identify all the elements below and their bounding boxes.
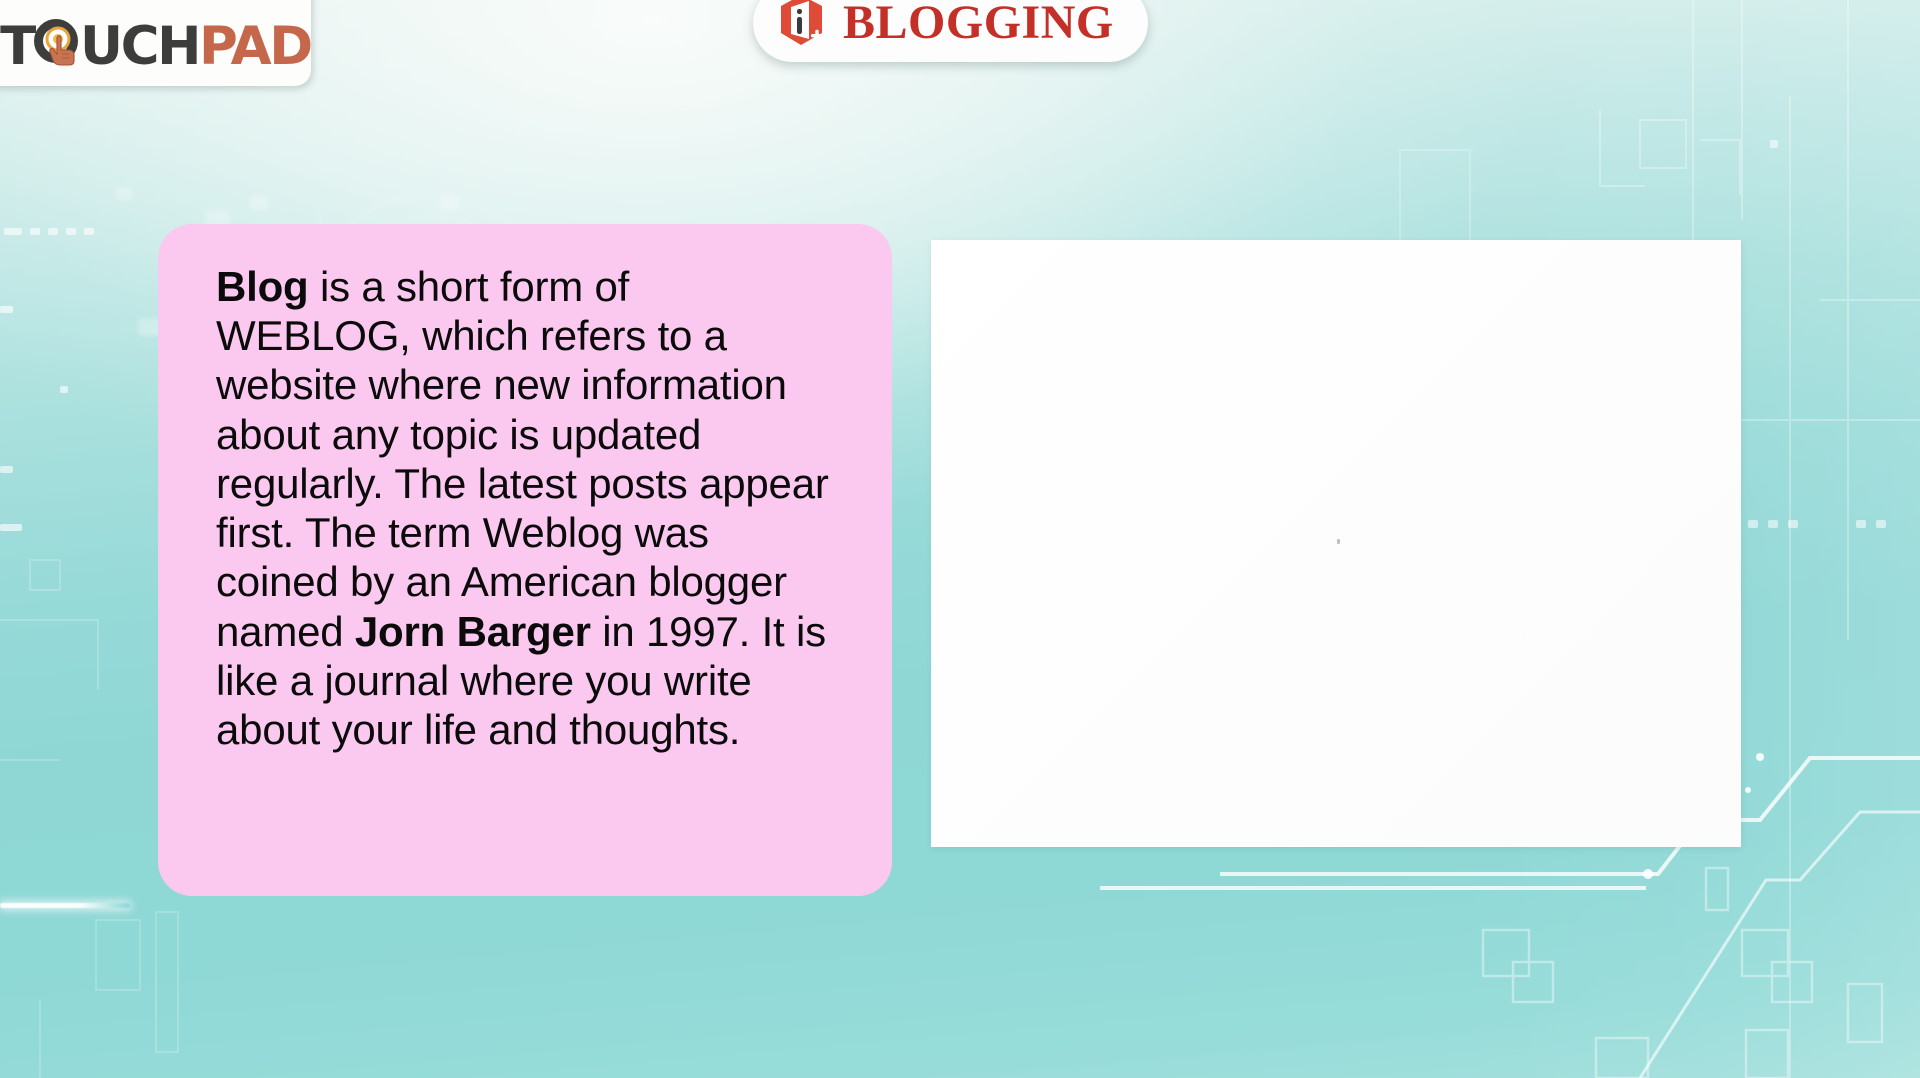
info-plus-hexagon-icon <box>777 0 829 52</box>
touchpad-wordmark: T UCH PAD <box>0 11 311 73</box>
page-title: BLOGGING <box>843 0 1114 47</box>
panel-artifact-speck <box>1337 539 1340 544</box>
definition-body-1: is a short form of WEBLOG, which refers … <box>216 263 829 655</box>
definition-paragraph: Blog is a short form of WEBLOG, which re… <box>216 262 832 754</box>
media-placeholder-panel[interactable] <box>931 240 1741 847</box>
slide-title-badge: BLOGGING <box>753 0 1148 62</box>
logo-letter-o-with-touch-icon <box>34 11 80 64</box>
logo-letter-t: T <box>0 20 34 73</box>
logo-letters-pad: PAD <box>199 20 311 73</box>
definition-term-jorn-barger: Jorn Barger <box>355 608 591 655</box>
touchpad-logo[interactable]: T UCH PAD <box>0 0 311 86</box>
accent-glow-line <box>0 903 130 908</box>
slide-canvas: T UCH PAD BL <box>0 0 1920 1078</box>
fingertip-touch-target-icon <box>41 24 81 66</box>
definition-term-blog: Blog <box>216 263 309 310</box>
logo-letters-uch: UCH <box>80 20 199 73</box>
definition-card: Blog is a short form of WEBLOG, which re… <box>158 224 892 896</box>
